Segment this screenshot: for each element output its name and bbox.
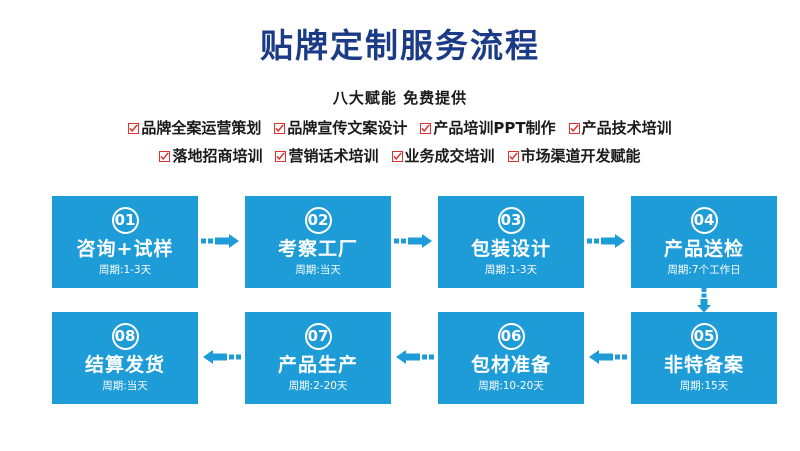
- feature-label: 市场渠道开发赋能: [521, 147, 641, 165]
- step-title: 咨询+试样: [77, 237, 174, 261]
- step-title: 包材准备: [471, 353, 551, 377]
- step-number: 05: [691, 323, 718, 350]
- step-number: 02: [305, 207, 332, 234]
- step-period: 周期:15天: [680, 379, 728, 394]
- feature-label: 品牌宣传文案设计: [287, 119, 407, 137]
- step-period: 周期:2-20天: [289, 379, 348, 394]
- arrow-right-icon-02-03: [394, 233, 434, 249]
- flow-step-03[interactable]: 03 包装设计 周期:1-3天: [438, 196, 584, 288]
- step-number: 01: [112, 207, 139, 234]
- step-period: 周期:7个工作日: [667, 263, 740, 278]
- step-title: 产品送检: [664, 237, 744, 261]
- feature-item: 品牌宣传文案设计: [274, 119, 407, 137]
- page-title: 贴牌定制服务流程: [0, 26, 800, 66]
- arrow-left-icon-05-06: [587, 349, 627, 365]
- arrow-right-icon-03-04: [587, 233, 627, 249]
- arrow-down-icon-04-05: [696, 288, 712, 313]
- step-title: 包装设计: [471, 237, 551, 261]
- step-period: 周期:当天: [102, 379, 148, 394]
- step-number: 04: [691, 207, 718, 234]
- step-title: 产品生产: [278, 353, 358, 377]
- step-period: 周期:当天: [295, 263, 341, 278]
- step-number: 08: [112, 323, 139, 350]
- checkmark-icon: [392, 151, 403, 162]
- step-number: 07: [305, 323, 332, 350]
- arrow-left-icon-06-07: [394, 349, 434, 365]
- feature-label: 品牌全案运营策划: [141, 119, 261, 137]
- flow-step-02[interactable]: 02 考察工厂 周期:当天: [245, 196, 391, 288]
- step-number: 06: [498, 323, 525, 350]
- feature-label: 业务成交培训: [405, 147, 495, 165]
- feature-label: 落地招商培训: [172, 147, 262, 165]
- arrow-right-icon-01-02: [201, 233, 241, 249]
- feature-item: 营销话术培训: [275, 147, 378, 165]
- step-title: 结算发货: [85, 353, 165, 377]
- step-number: 03: [498, 207, 525, 234]
- feature-item: 产品技术培训: [569, 119, 672, 137]
- feature-item: 业务成交培训: [392, 147, 495, 165]
- checkmark-icon: [159, 151, 170, 162]
- step-title: 考察工厂: [278, 237, 358, 261]
- checkmark-icon: [274, 123, 285, 134]
- feature-item: 品牌全案运营策划: [128, 119, 261, 137]
- feature-row-2: 落地招商培训 营销话术培训 业务成交培训 市场渠道开发赋能: [0, 142, 800, 170]
- feature-label: 营销话术培训: [288, 147, 378, 165]
- step-period: 周期:10-20天: [478, 379, 544, 394]
- poster-canvas: 贴牌定制服务流程 八大赋能 免费提供 品牌全案运营策划 品牌宣传文案设计 产品培…: [0, 0, 800, 451]
- checkmark-icon: [569, 123, 580, 134]
- flow-step-07[interactable]: 07 产品生产 周期:2-20天: [245, 312, 391, 404]
- checkmark-icon: [420, 123, 431, 134]
- flow-step-08[interactable]: 08 结算发货 周期:当天: [52, 312, 198, 404]
- checkmark-icon: [128, 123, 139, 134]
- feature-label: 产品技术培训: [582, 119, 672, 137]
- step-title: 非特备案: [664, 353, 744, 377]
- checkmark-icon: [508, 151, 519, 162]
- feature-list: 品牌全案运营策划 品牌宣传文案设计 产品培训PPT制作 产品技术培训: [0, 114, 800, 170]
- flow-step-01[interactable]: 01 咨询+试样 周期:1-3天: [52, 196, 198, 288]
- page-subtitle: 八大赋能 免费提供: [0, 88, 800, 108]
- process-flow-diagram: 01 咨询+试样 周期:1-3天 02 考察工厂 周期:当天 03: [0, 0, 800, 451]
- step-period: 周期:1-3天: [485, 263, 537, 278]
- flow-step-05[interactable]: 05 非特备案 周期:15天: [631, 312, 777, 404]
- feature-label: 产品培训PPT制作: [433, 119, 555, 137]
- flow-step-06[interactable]: 06 包材准备 周期:10-20天: [438, 312, 584, 404]
- feature-item: 落地招商培训: [159, 147, 262, 165]
- feature-item: 市场渠道开发赋能: [508, 147, 641, 165]
- step-period: 周期:1-3天: [99, 263, 151, 278]
- checkmark-icon: [275, 151, 286, 162]
- feature-row-1: 品牌全案运营策划 品牌宣传文案设计 产品培训PPT制作 产品技术培训: [0, 114, 800, 142]
- feature-item: 产品培训PPT制作: [420, 119, 555, 137]
- arrow-left-icon-07-08: [201, 349, 241, 365]
- flow-step-04[interactable]: 04 产品送检 周期:7个工作日: [631, 196, 777, 288]
